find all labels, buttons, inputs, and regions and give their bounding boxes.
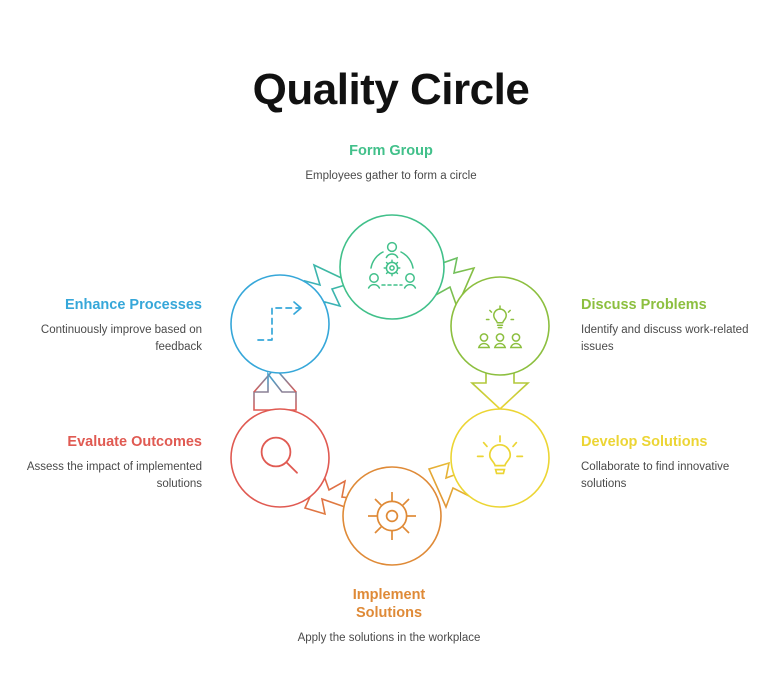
arrow-discuss-to-develop [472, 365, 528, 409]
step-label-form-group: Form Group [286, 142, 496, 160]
dashed-step-arrow-icon [258, 302, 301, 340]
step-label-discuss-problems: Discuss Problems [581, 296, 771, 314]
arrow-form-to-discuss [419, 258, 474, 307]
step-text-discuss-problems: Discuss Problems Identify and discuss wo… [581, 296, 771, 355]
people-group-gear-icon [369, 243, 416, 288]
step-text-evaluate-outcomes: Evaluate Outcomes Assess the impact of i… [12, 433, 202, 492]
step-description-develop-solutions: Collaborate to find innovative solutions [581, 459, 771, 492]
node-enhance-processes[interactable] [231, 275, 329, 373]
step-description-evaluate-outcomes: Assess the impact of implemented solutio… [12, 459, 202, 492]
node-discuss-problems[interactable] [451, 277, 549, 375]
step-text-implement-solutions: Implement Solutions Apply the solutions … [284, 586, 494, 647]
node-form-group[interactable] [340, 215, 444, 319]
lightbulb-audience-icon [479, 306, 521, 348]
node-evaluate-outcomes[interactable] [231, 409, 329, 507]
step-text-develop-solutions: Develop Solutions Collaborate to find in… [581, 433, 771, 492]
step-description-enhance-processes: Continuously improve based on feedback [12, 322, 202, 355]
step-text-form-group: Form Group Employees gather to form a ci… [286, 142, 496, 185]
step-label-evaluate-outcomes: Evaluate Outcomes [12, 433, 202, 451]
step-label-enhance-processes: Enhance Processes [12, 296, 202, 314]
quality-circle-diagram: Form Group Employees gather to form a ci… [0, 0, 782, 687]
step-label-develop-solutions: Develop Solutions [581, 433, 771, 451]
gear-icon [368, 492, 416, 540]
step-label-implement-solutions: Implement Solutions [329, 586, 449, 622]
step-description-form-group: Employees gather to form a circle [286, 168, 496, 185]
arrow-evaluate-to-enhance [254, 374, 296, 410]
step-text-enhance-processes: Enhance Processes Continuously improve b… [12, 296, 202, 355]
lightbulb-icon [478, 436, 523, 473]
node-implement-solutions[interactable] [343, 467, 441, 565]
node-develop-solutions[interactable] [451, 409, 549, 507]
arrow-develop-to-implement [429, 463, 484, 507]
arrow-enhance-to-form [305, 265, 352, 320]
step-description-implement-solutions: Apply the solutions in the workplace [284, 630, 494, 647]
step-description-discuss-problems: Identify and discuss work-related issues [581, 322, 771, 355]
magnifying-glass-icon [262, 438, 297, 473]
arrow-implement-to-evaluate [305, 470, 360, 514]
arrow-evaluate-to-enhance-head [254, 368, 296, 392]
